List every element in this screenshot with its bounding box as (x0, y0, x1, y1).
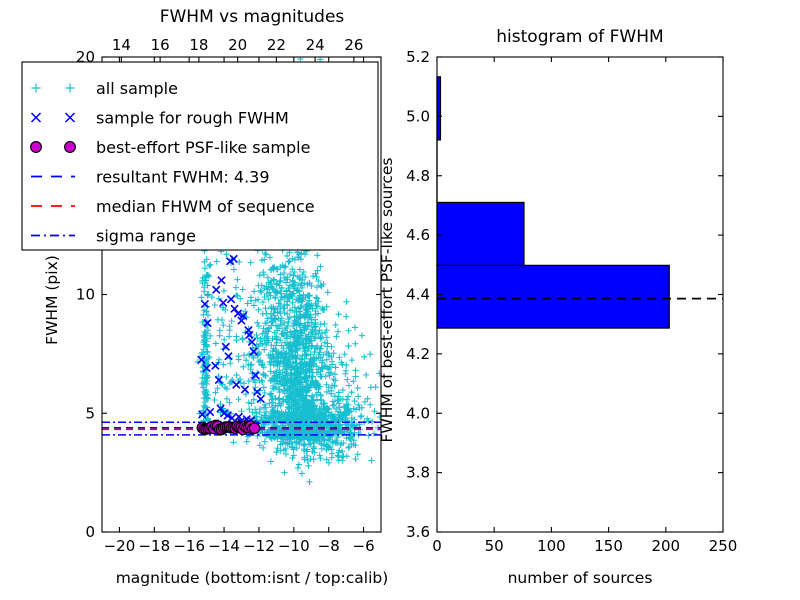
legend-label: all sample (96, 79, 178, 98)
legend[interactable]: all samplesample for rough FWHMbest-effo… (22, 62, 378, 250)
histogram-y-tick: 3.8 (406, 464, 430, 482)
scatter-y-axis-label: FWHM (pix) (43, 255, 61, 345)
histogram-x-tick: 250 (709, 537, 738, 555)
histogram-x-tick: 150 (594, 537, 623, 555)
histogram-bar (437, 202, 524, 265)
figure-canvas: −20−18−16−14−12−10−8−6141618202224260510… (0, 0, 800, 600)
scatter-top-tick: 18 (189, 36, 208, 54)
circle-marker-icon (65, 142, 76, 153)
histogram-y-tick: 5.2 (406, 48, 430, 66)
scatter-top-tick: 26 (344, 36, 363, 54)
scatter-plot-title: FWHM vs magnitudes (160, 7, 345, 27)
histogram-bar (437, 265, 669, 328)
histogram-y-tick: 4.6 (406, 226, 430, 244)
scatter-x-tick: −18 (138, 537, 170, 555)
scatter-x-tick: −10 (278, 537, 310, 555)
histogram-x-tick: 50 (485, 537, 504, 555)
scatter-top-tick: 22 (267, 36, 286, 54)
scatter-x-tick: −6 (353, 537, 375, 555)
histogram-x-tick: 200 (651, 537, 680, 555)
scatter-x-tick: −12 (243, 537, 275, 555)
scatter-top-tick: 20 (228, 36, 247, 54)
scatter-x-tick: −14 (208, 537, 240, 555)
histogram-y-tick: 4.8 (406, 167, 430, 185)
histogram-y-tick: 4.2 (406, 345, 430, 363)
histogram-x-axis-label: number of sources (508, 569, 653, 587)
histogram-y-tick: 4.0 (406, 404, 430, 422)
legend-label: median FHWM of sequence (96, 197, 315, 216)
scatter-x-axis-label: magnitude (bottom:isnt / top:calib) (116, 569, 389, 587)
scatter-top-tick: 16 (151, 36, 170, 54)
scatter-x-tick: −8 (318, 537, 340, 555)
legend-label: sigma range (96, 227, 196, 246)
legend-label: best-effort PSF-like sample (96, 138, 310, 157)
matplotlib-figure: −20−18−16−14−12−10−8−6141618202224260510… (0, 0, 800, 600)
histogram-title: histogram of FWHM (496, 27, 663, 47)
histogram-y-axis-label: FWHM of best-effort PSF-like sources (378, 157, 396, 442)
scatter-y-tick: 5 (85, 404, 95, 422)
histogram-y-tick: 5.0 (406, 107, 430, 125)
histogram-x-tick: 100 (537, 537, 566, 555)
histogram-y-tick: 4.4 (406, 286, 430, 304)
histogram-x-tick: 0 (432, 537, 442, 555)
histogram-y-tick: 3.6 (406, 523, 430, 541)
scatter-top-tick: 14 (112, 36, 131, 54)
legend-label: sample for rough FWHM (96, 109, 289, 128)
circle-marker-icon (31, 142, 42, 153)
scatter-top-tick: 24 (306, 36, 325, 54)
scatter-y-tick: 10 (76, 286, 95, 304)
scatter-y-tick: 0 (85, 523, 95, 541)
scatter-x-tick: −20 (104, 537, 136, 555)
scatter-x-tick: −16 (173, 537, 205, 555)
legend-label: resultant FWHM: 4.39 (96, 168, 270, 187)
